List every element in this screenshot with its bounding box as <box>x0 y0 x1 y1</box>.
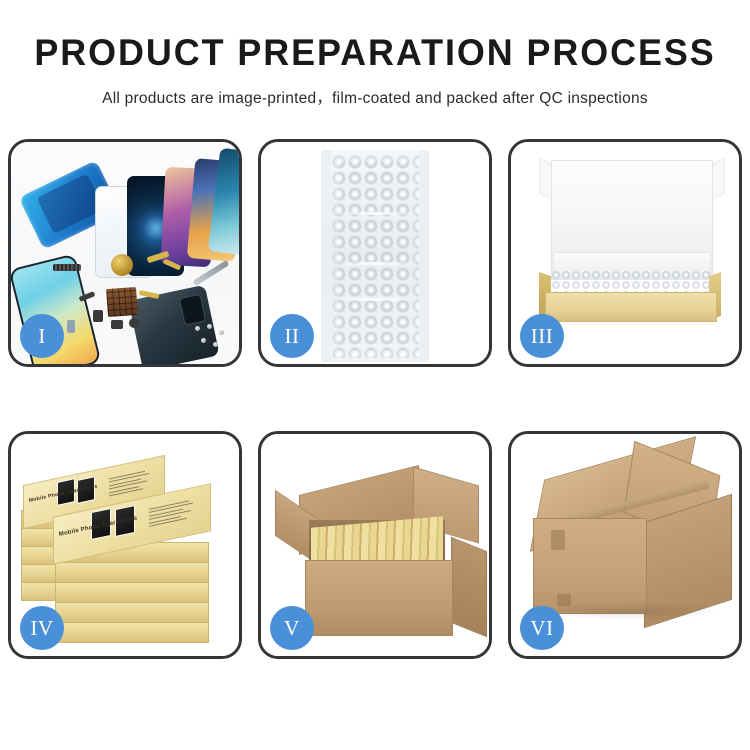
mailer-front-panel <box>545 292 717 322</box>
logic-board-chip <box>106 287 138 317</box>
page-subtitle: All products are image-printed，film-coat… <box>0 86 750 108</box>
box-edge-f4 <box>55 602 209 623</box>
wrap-crease-3 <box>331 298 419 301</box>
header: PRODUCT PREPARATION PROCESS All products… <box>0 0 750 108</box>
step-badge-1: I <box>20 314 64 358</box>
box-edge-f5 <box>55 622 209 643</box>
earpiece-speaker-part <box>53 264 81 271</box>
carton-side-panel <box>451 537 487 638</box>
screws-group <box>193 324 229 350</box>
wrap-crease-1 <box>331 212 419 215</box>
small-connector-3 <box>111 320 123 329</box>
page-title: PRODUCT PREPARATION PROCESS <box>11 34 739 73</box>
process-step-3: III <box>508 139 742 367</box>
step-badge-4: IV <box>20 606 64 650</box>
process-step-6: VI <box>508 431 742 659</box>
camera-module-part <box>129 318 139 328</box>
vibration-motor-part <box>111 254 133 276</box>
product-preparation-infographic: PRODUCT PREPARATION PROCESS All products… <box>0 0 750 750</box>
step-badge-6: VI <box>520 606 564 650</box>
box-edge-f3 <box>55 582 209 603</box>
process-step-4: Mobile Phone Spare Parts Mobil <box>8 431 242 659</box>
bubble-texture-layer-2 <box>339 162 411 350</box>
step-badge-2: II <box>270 314 314 358</box>
process-step-5: V <box>258 431 492 659</box>
bubble-wrap-sleeve <box>321 150 429 362</box>
step-badge-3: III <box>520 314 564 358</box>
process-step-2: II <box>258 139 492 367</box>
wrap-crease-2 <box>331 262 419 265</box>
process-step-grid: I II <box>8 139 742 659</box>
carton-handle-tab-upper <box>551 530 565 550</box>
carton-ground-shadow <box>535 602 725 620</box>
box-edge-f2 <box>55 562 209 583</box>
carton-front-panel <box>305 560 453 636</box>
step-badge-5: V <box>270 606 314 650</box>
sim-tray-part <box>67 320 75 333</box>
process-step-1: I <box>8 139 242 367</box>
small-connector-2 <box>93 310 103 322</box>
